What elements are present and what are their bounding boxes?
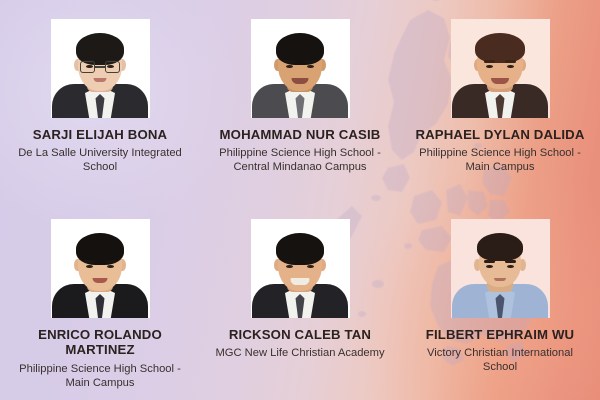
awardee-school: Philippine Science High School - Central…	[212, 146, 388, 174]
awardee-card[interactable]: ENRICO ROLANDO MARTINEZ Philippine Scien…	[0, 200, 200, 400]
portrait-rickson-caleb-tan	[251, 219, 350, 318]
awardee-poster: SARJI ELIJAH BONA De La Salle University…	[0, 0, 600, 400]
portrait-enrico-rolando-martinez	[51, 219, 150, 318]
portrait-mohammad-nur-casib	[251, 19, 350, 118]
awardee-card[interactable]: FILBERT EPHRAIM WU Victory Christian Int…	[400, 200, 600, 400]
portrait-filbert-ephraim-wu	[451, 219, 550, 318]
awardee-name: MOHAMMAD NUR CASIB	[220, 127, 381, 142]
portrait-raphael-dylan-dalida	[451, 19, 550, 118]
awardee-grid: SARJI ELIJAH BONA De La Salle University…	[0, 0, 600, 400]
awardee-name: FILBERT EPHRAIM WU	[426, 327, 574, 342]
awardee-school: Philippine Science High School - Main Ca…	[412, 146, 588, 174]
awardee-school: Philippine Science High School - Main Ca…	[12, 362, 188, 390]
awardee-card[interactable]: SARJI ELIJAH BONA De La Salle University…	[0, 0, 200, 200]
awardee-name: ENRICO ROLANDO MARTINEZ	[15, 327, 185, 358]
awardee-card[interactable]: RAPHAEL DYLAN DALIDA Philippine Science …	[400, 0, 600, 200]
portrait-sarji-elijah-bona	[51, 19, 150, 118]
awardee-name: RAPHAEL DYLAN DALIDA	[415, 127, 584, 142]
awardee-school: MGC New Life Christian Academy	[215, 346, 384, 360]
awardee-card[interactable]: MOHAMMAD NUR CASIB Philippine Science Hi…	[200, 0, 400, 200]
awardee-name: RICKSON CALEB TAN	[229, 327, 371, 342]
awardee-school: Victory Christian International School	[412, 346, 588, 374]
awardee-school: De La Salle University Integrated School	[12, 146, 188, 174]
awardee-name: SARJI ELIJAH BONA	[33, 127, 167, 142]
awardee-card[interactable]: RICKSON CALEB TAN MGC New Life Christian…	[200, 200, 400, 400]
